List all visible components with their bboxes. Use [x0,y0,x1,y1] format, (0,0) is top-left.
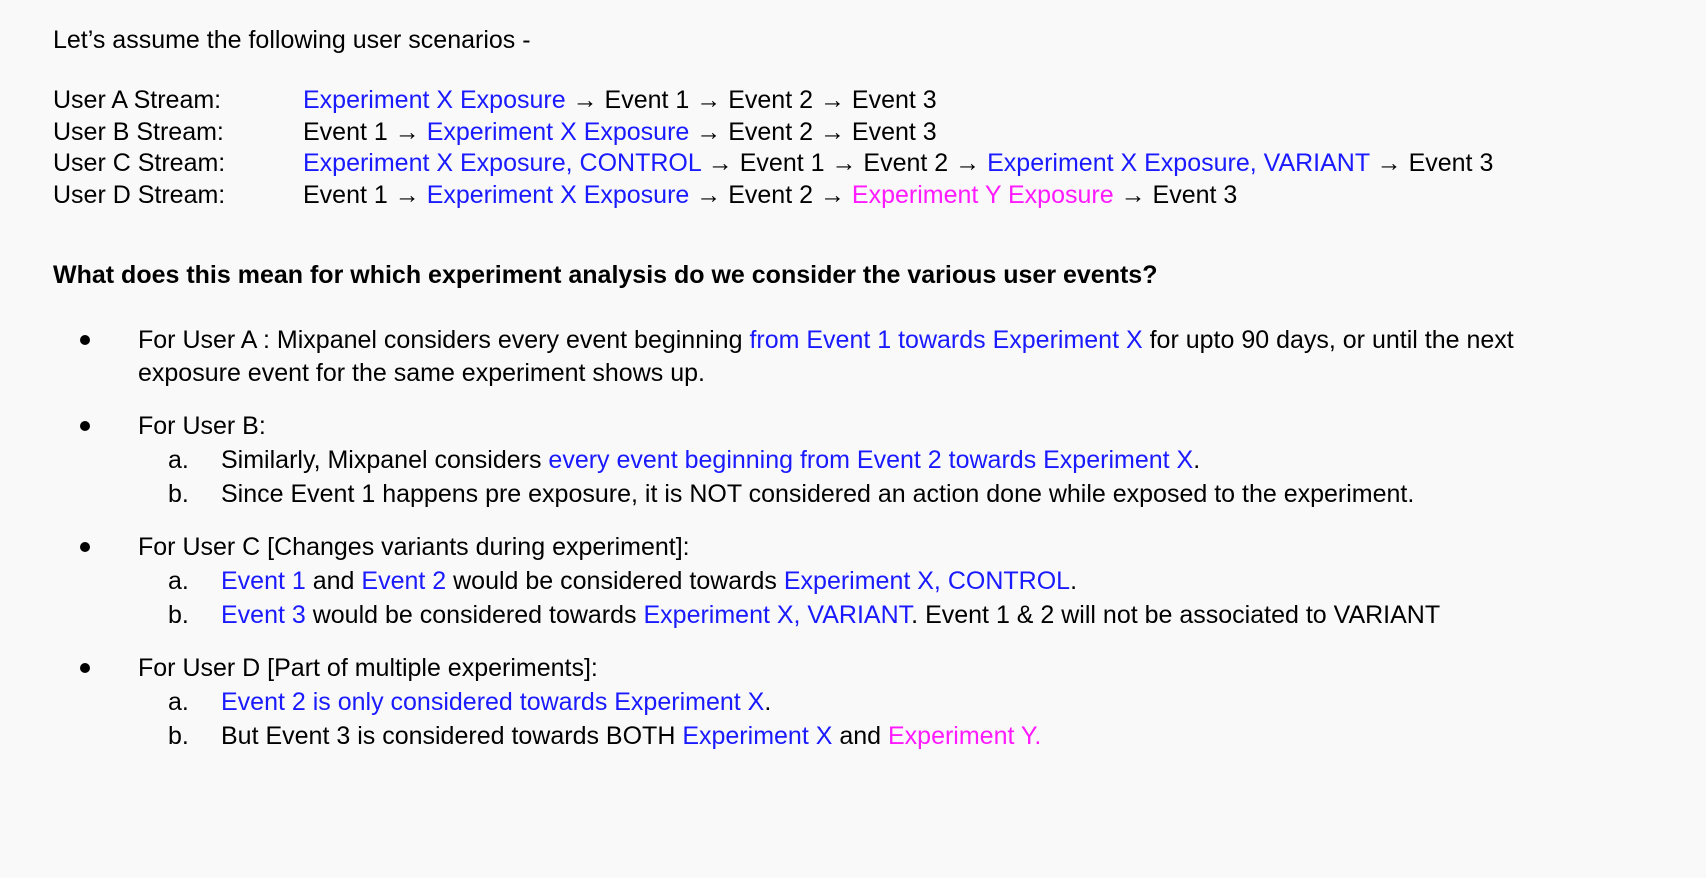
user-stream-row: User D Stream:Event 1 → Experiment X Exp… [53,180,1706,212]
list-item: For User A : Mixpanel considers every ev… [53,324,1706,390]
text-run: → [1114,181,1153,209]
sub-list-marker: b. [168,477,189,511]
text-run: Event 3 [221,601,306,629]
sub-list-marker: b. [168,719,189,753]
text-run: Event 1 [303,118,388,146]
sub-list-item: b.Event 3 would be considered towards Ex… [138,598,1706,632]
text-run: Event 3 [1153,181,1238,209]
text-run: → [948,149,987,177]
user-stream-flow: Experiment X Exposure, CONTROL → Event 1… [303,148,1493,180]
text-run: But Event 3 is considered towards BOTH [221,722,682,750]
text-run: Event 2 [361,567,446,595]
list-item-text: For User C [Changes variants during expe… [138,531,1598,564]
text-run: would be considered towards [446,567,784,595]
sub-list-item-text: But Event 3 is considered towards BOTH E… [221,722,1041,750]
user-stream-flow: Event 1 → Experiment X Exposure → Event … [303,117,937,149]
user-stream-row: User C Stream:Experiment X Exposure, CON… [53,148,1706,180]
text-run: Experiment X, CONTROL [784,567,1070,595]
document-page: Let’s assume the following user scenario… [0,0,1706,878]
text-run: → [813,86,852,114]
sub-list-item-text: Similarly, Mixpanel considers every even… [221,446,1200,474]
sub-list: a.Event 2 is only considered towards Exp… [53,685,1706,753]
list-item-text: For User B: [138,410,1598,443]
user-stream-list: User A Stream:Experiment X Exposure → Ev… [0,85,1706,211]
spacer [53,511,1706,531]
sub-list-marker: a. [168,685,189,719]
bullet-dot-icon [80,421,90,431]
text-run: → [1370,149,1409,177]
list-item: For User D [Part of multiple experiments… [53,652,1706,685]
sub-list-item-text: Event 2 is only considered towards Exper… [221,688,771,716]
text-run: Experiment X Exposure [427,118,690,146]
text-run: Experiment X [682,722,832,750]
text-run: Event 1 [303,181,388,209]
user-stream-label: User B Stream: [53,117,303,149]
sub-list-marker: a. [168,443,189,477]
text-run: Experiment X Exposure, CONTROL [303,149,701,177]
text-run: Experiment Y. [888,722,1041,750]
text-run: Event 2 [728,118,813,146]
text-run: → [566,86,605,114]
bullet-dot-icon [80,542,90,552]
spacer [0,291,1706,324]
sub-list: a.Event 1 and Event 2 would be considere… [53,564,1706,632]
text-run: → [388,181,427,209]
user-stream-label: User A Stream: [53,85,303,117]
text-run: from Event 1 towards Experiment X [749,326,1142,354]
list-item-text: For User A : Mixpanel considers every ev… [138,324,1598,390]
text-run: would be considered towards [306,601,644,629]
sub-list-item-text: Event 3 would be considered towards Expe… [221,601,1440,629]
spacer [0,211,1706,259]
spacer [0,58,1706,85]
sub-list: a.Similarly, Mixpanel considers every ev… [53,443,1706,511]
text-run: For User D [Part of multiple experiments… [138,654,598,682]
text-run: → [689,181,728,209]
user-stream-label: User C Stream: [53,148,303,180]
text-run: For User A : Mixpanel considers every ev… [138,326,749,354]
user-stream-label: User D Stream: [53,180,303,212]
sub-list-item: a.Event 1 and Event 2 would be considere… [138,564,1706,598]
intro-line: Let’s assume the following user scenario… [0,22,1706,58]
list-item: For User C [Changes variants during expe… [53,531,1706,564]
text-run: → [689,86,728,114]
text-run: Experiment X Exposure [427,181,690,209]
text-run: → [388,118,427,146]
text-run: Experiment Y Exposure [852,181,1114,209]
text-run: and [832,722,888,750]
text-run: Event 3 [852,118,937,146]
text-run: Experiment X Exposure, VARIANT [987,149,1370,177]
user-stream-row: User B Stream:Event 1 → Experiment X Exp… [53,117,1706,149]
sub-list-item-text: Event 1 and Event 2 would be considered … [221,567,1077,595]
text-run: Experiment X, VARIANT [643,601,911,629]
sub-list-item-text: Since Event 1 happens pre exposure, it i… [221,480,1414,508]
text-run: Event 3 [852,86,937,114]
explanation-bullet-list: For User A : Mixpanel considers every ev… [0,324,1706,753]
list-item-text: For User D [Part of multiple experiments… [138,652,1598,685]
text-run: Event 3 [1409,149,1494,177]
sub-list-item: b.But Event 3 is considered towards BOTH… [138,719,1706,753]
sub-list-marker: b. [168,598,189,632]
spacer [53,632,1706,652]
text-run: Similarly, Mixpanel considers [221,446,548,474]
section-question-heading: What does this mean for which experiment… [0,259,1706,291]
text-run: . [1070,567,1077,595]
text-run: Since Event 1 happens pre exposure, it i… [221,480,1414,508]
text-run: Event 2 [728,181,813,209]
bullet-dot-icon [80,335,90,345]
text-run: Event 2 is only considered towards Exper… [221,688,764,716]
user-stream-flow: Event 1 → Experiment X Exposure → Event … [303,180,1237,212]
text-run: → [813,181,852,209]
list-item: For User B: [53,410,1706,443]
text-run: every event beginning from Event 2 towar… [548,446,1193,474]
text-run: Event 2 [863,149,948,177]
text-run: Event 2 [728,86,813,114]
text-run: Experiment X Exposure [303,86,566,114]
text-run: and [306,567,362,595]
text-run: → [813,118,852,146]
sub-list-marker: a. [168,564,189,598]
text-run: . [1193,446,1200,474]
spacer [53,390,1706,410]
text-run: For User B: [138,412,266,440]
sub-list-item: a.Similarly, Mixpanel considers every ev… [138,443,1706,477]
text-run: Event 1 [740,149,825,177]
text-run: Event 1 [221,567,306,595]
sub-list-item: b.Since Event 1 happens pre exposure, it… [138,477,1706,511]
bullet-dot-icon [80,663,90,673]
text-run: Event 1 [605,86,690,114]
user-stream-flow: Experiment X Exposure → Event 1 → Event … [303,85,937,117]
sub-list-item: a.Event 2 is only considered towards Exp… [138,685,1706,719]
user-stream-row: User A Stream:Experiment X Exposure → Ev… [53,85,1706,117]
text-run: For User C [Changes variants during expe… [138,533,690,561]
text-run: . Event 1 & 2 will not be associated to … [911,601,1440,629]
text-run: → [701,149,740,177]
text-run: . [764,688,771,716]
text-run: → [689,118,728,146]
text-run: → [825,149,864,177]
